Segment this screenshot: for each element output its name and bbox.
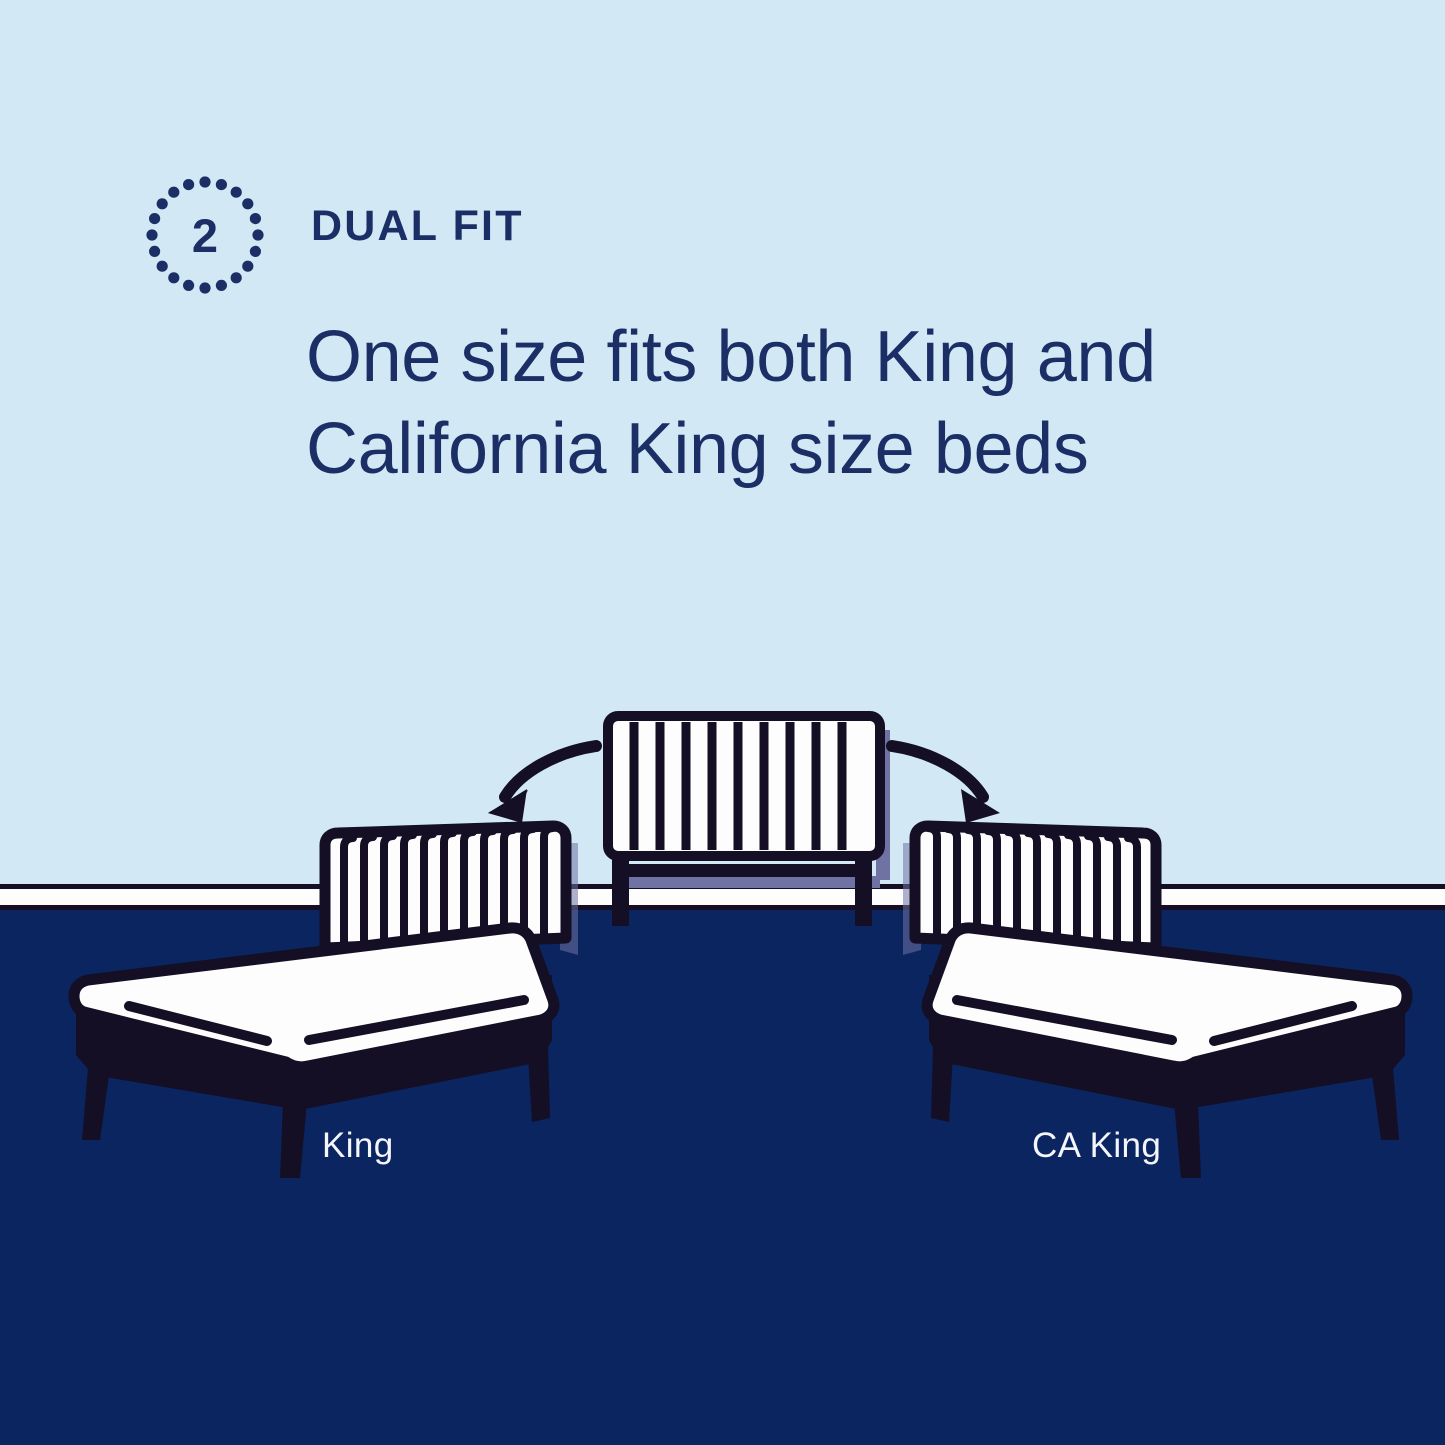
bed-label-king: King <box>322 1126 394 1166</box>
arrow-to-ca-king-icon <box>892 746 1000 823</box>
bed-label-ca-king: CA King <box>1032 1126 1161 1166</box>
infographic-panel: 2 DUAL FIT One size fits both King and C… <box>0 0 1445 1445</box>
arrow-to-king-icon <box>488 746 596 823</box>
bed-illustration <box>0 0 1445 1445</box>
standalone-headboard <box>608 716 890 926</box>
